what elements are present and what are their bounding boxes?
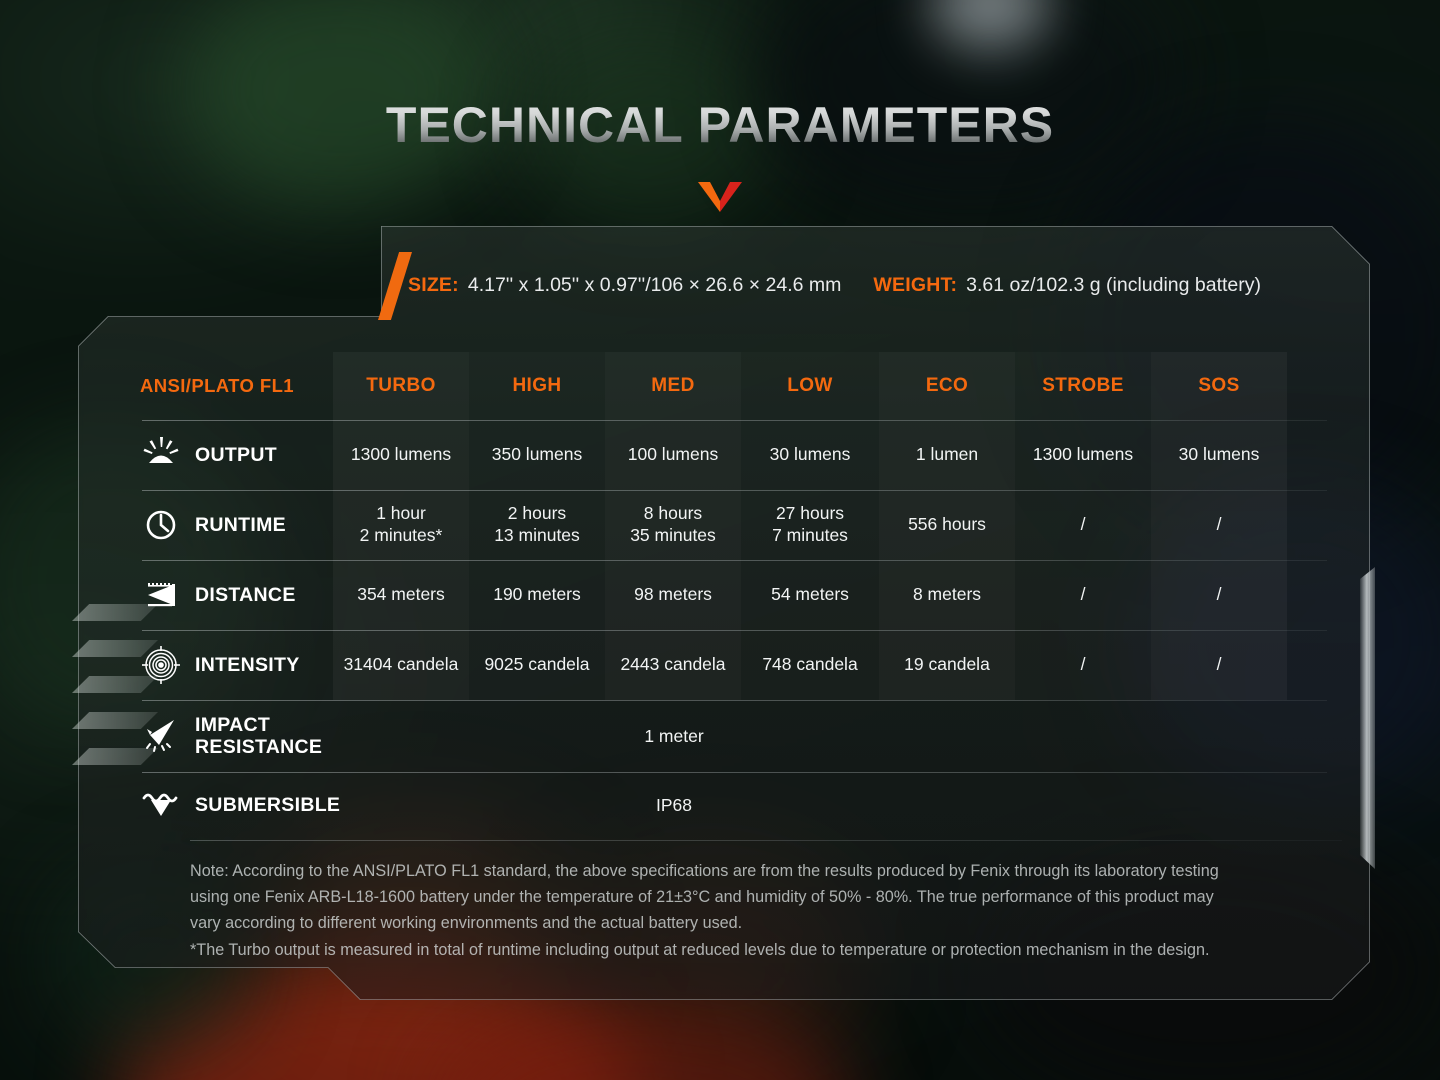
cell-runtime-low: 27 hours7 minutes — [741, 490, 879, 560]
cell-output-turbo: 1300 lumens — [333, 420, 469, 490]
weight-value: 3.61 oz/102.3 g (including battery) — [966, 274, 1261, 297]
cell-runtime-high: 2 hours13 minutes — [469, 490, 605, 560]
table-row-distance: DISTANCE 354 meters 190 meters 98 meters… — [78, 560, 1333, 630]
row-label-text: INTENSITY — [195, 654, 300, 676]
column-header-ansi: ANSI/PLATO FL1 — [78, 352, 333, 420]
chevron-down-icon — [698, 182, 742, 212]
column-header-eco: ECO — [879, 352, 1015, 420]
cell-intensity-sos: / — [1151, 630, 1287, 700]
row-label-output: OUTPUT — [78, 420, 333, 490]
note-line: vary according to different working envi… — [190, 910, 1342, 936]
runtime-minutes: 7 minutes — [772, 525, 848, 545]
table-row-output: OUTPUT 1300 lumens 350 lumens 100 lumens… — [78, 420, 1333, 490]
spec-table: ANSI/PLATO FL1 TURBO HIGH MED LOW ECO ST… — [78, 352, 1333, 838]
cell-submersible-value: IP68 — [333, 772, 1333, 838]
runtime-minutes: 13 minutes — [494, 525, 580, 545]
note-line: *The Turbo output is measured in total o… — [190, 937, 1342, 963]
cell-output-strobe: 1300 lumens — [1015, 420, 1151, 490]
runtime-minutes: 35 minutes — [630, 525, 716, 545]
impact-icon — [140, 715, 182, 757]
column-header-med: MED — [605, 352, 741, 420]
cell-intensity-high: 9025 candela — [469, 630, 605, 700]
cell-runtime-eco: 556 hours — [879, 490, 1015, 560]
cell-runtime-med: 8 hours35 minutes — [605, 490, 741, 560]
column-header-sos: SOS — [1151, 352, 1287, 420]
target-icon — [140, 644, 182, 686]
cell-runtime-strobe: / — [1015, 490, 1151, 560]
runtime-minutes: 2 minutes* — [360, 525, 443, 545]
cell-distance-high: 190 meters — [469, 560, 605, 630]
row-label-text: DISTANCE — [195, 584, 296, 606]
note-block: Note: According to the ANSI/PLATO FL1 st… — [190, 858, 1342, 963]
cell-distance-strobe: / — [1015, 560, 1151, 630]
cell-runtime-turbo: 1 hour2 minutes* — [333, 490, 469, 560]
cell-intensity-turbo: 31404 candela — [333, 630, 469, 700]
table-row-submersible: SUBMERSIBLE IP68 — [78, 772, 1333, 838]
cell-distance-low: 54 meters — [741, 560, 879, 630]
size-label: SIZE: — [408, 274, 459, 297]
water-drop-icon — [140, 784, 182, 826]
row-label-impact-resistance: IMPACTRESISTANCE — [78, 700, 333, 772]
cell-distance-med: 98 meters — [605, 560, 741, 630]
row-label-text: RUNTIME — [195, 514, 286, 536]
cell-runtime-sos: / — [1151, 490, 1287, 560]
row-label-runtime: RUNTIME — [78, 490, 333, 560]
table-row-intensity: INTENSITY 31404 candela 9025 candela 244… — [78, 630, 1333, 700]
row-label-text: IMPACTRESISTANCE — [195, 714, 322, 759]
table-row-impact-resistance: IMPACTRESISTANCE 1 meter — [78, 700, 1333, 772]
spec-panel: SIZE: 4.17'' x 1.05'' x 0.97''/106 × 26.… — [60, 222, 1390, 1012]
page-title: TECHNICAL PARAMETERS — [0, 96, 1440, 154]
column-header-low: LOW — [741, 352, 879, 420]
cell-output-low: 30 lumens — [741, 420, 879, 490]
column-header-turbo: TURBO — [333, 352, 469, 420]
runtime-hours: 1 hour — [376, 503, 426, 523]
size-value: 4.17'' x 1.05'' x 0.97''/106 × 26.6 × 24… — [468, 274, 842, 297]
clock-icon — [140, 504, 182, 546]
weight-label: WEIGHT: — [873, 274, 957, 297]
right-accent-bar — [1360, 567, 1375, 869]
cell-distance-sos: / — [1151, 560, 1287, 630]
spec-strip: SIZE: 4.17'' x 1.05'' x 0.97''/106 × 26.… — [408, 266, 1261, 304]
cell-output-eco: 1 lumen — [879, 420, 1015, 490]
cell-output-med: 100 lumens — [605, 420, 741, 490]
runtime-hours: 27 hours — [776, 503, 844, 523]
cell-impact-resistance-value: 1 meter — [333, 700, 1333, 772]
cell-output-high: 350 lumens — [469, 420, 605, 490]
row-label-distance: DISTANCE — [78, 560, 333, 630]
row-label-intensity: INTENSITY — [78, 630, 333, 700]
cell-distance-eco: 8 meters — [879, 560, 1015, 630]
cell-distance-turbo: 354 meters — [333, 560, 469, 630]
runtime-hours: 8 hours — [644, 503, 702, 523]
cell-intensity-med: 2443 candela — [605, 630, 741, 700]
column-header-strobe: STROBE — [1015, 352, 1151, 420]
note-divider — [190, 840, 1342, 841]
cell-intensity-low: 748 candela — [741, 630, 879, 700]
row-label-submersible: SUBMERSIBLE — [78, 772, 333, 838]
runtime-hours: 2 hours — [508, 503, 566, 523]
row-label-text: OUTPUT — [195, 444, 277, 466]
table-header-row: ANSI/PLATO FL1 TURBO HIGH MED LOW ECO ST… — [78, 352, 1333, 420]
cell-output-sos: 30 lumens — [1151, 420, 1287, 490]
row-label-text: SUBMERSIBLE — [195, 794, 340, 816]
cell-intensity-strobe: / — [1015, 630, 1151, 700]
note-line: using one Fenix ARB-L18-1600 battery und… — [190, 884, 1342, 910]
cell-intensity-eco: 19 candela — [879, 630, 1015, 700]
table-row-runtime: RUNTIME 1 hour2 minutes* 2 hours13 minut… — [78, 490, 1333, 560]
beam-distance-icon — [140, 574, 182, 616]
column-header-high: HIGH — [469, 352, 605, 420]
sunburst-icon — [140, 434, 182, 476]
note-line: Note: According to the ANSI/PLATO FL1 st… — [190, 858, 1342, 884]
